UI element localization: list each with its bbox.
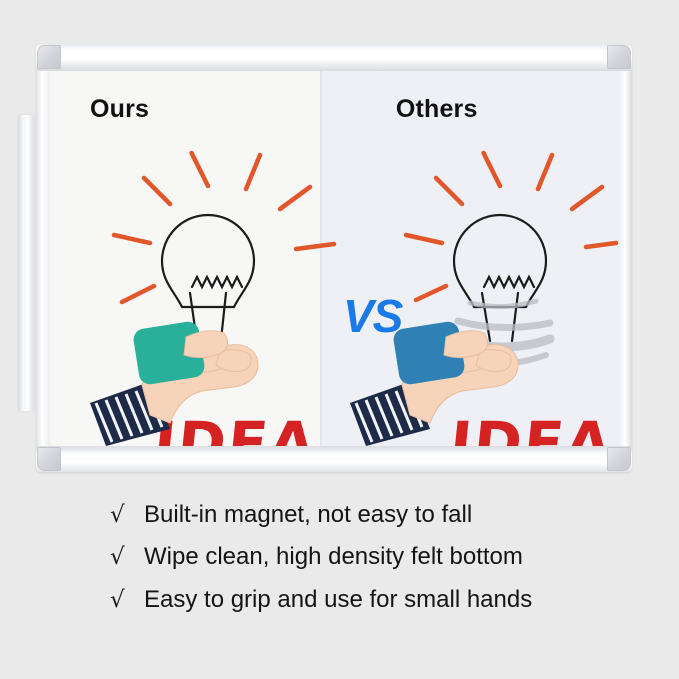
thumb-others: [444, 331, 488, 358]
feature-item: √ Wipe clean, high density felt bottom: [110, 544, 630, 570]
feature-item: √ Easy to grip and use for small hands: [110, 587, 630, 613]
feature-text: Built-in magnet, not easy to fall: [144, 502, 472, 528]
frame-corner-top-right: [607, 45, 631, 69]
thumb-ours: [184, 331, 228, 358]
frame-corner-bottom-right: [607, 447, 631, 471]
frame-edge-right: [618, 44, 632, 472]
vs-badge: VS: [343, 289, 402, 343]
feature-item: √ Built-in magnet, not easy to fall: [110, 502, 630, 528]
feature-text: Wipe clean, high density felt bottom: [144, 544, 523, 570]
whiteboard-hanging-rail: [18, 115, 34, 411]
bulb-rays-others: [406, 151, 616, 300]
frame-edge-bottom: [36, 446, 632, 472]
hand-with-eraser-ours: [90, 311, 290, 446]
whiteboard-surface: Ours Others: [50, 71, 618, 446]
frame-corner-top-left: [37, 45, 61, 69]
frame-corner-bottom-left: [37, 447, 61, 471]
check-icon: √: [110, 587, 144, 613]
check-icon: √: [110, 502, 144, 528]
feature-list: √ Built-in magnet, not easy to fall √ Wi…: [110, 502, 630, 629]
check-icon: √: [110, 544, 144, 570]
feature-text: Easy to grip and use for small hands: [144, 587, 532, 613]
whiteboard: Ours Others: [36, 44, 632, 472]
frame-edge-left: [36, 44, 50, 472]
frame-edge-top: [36, 44, 632, 71]
